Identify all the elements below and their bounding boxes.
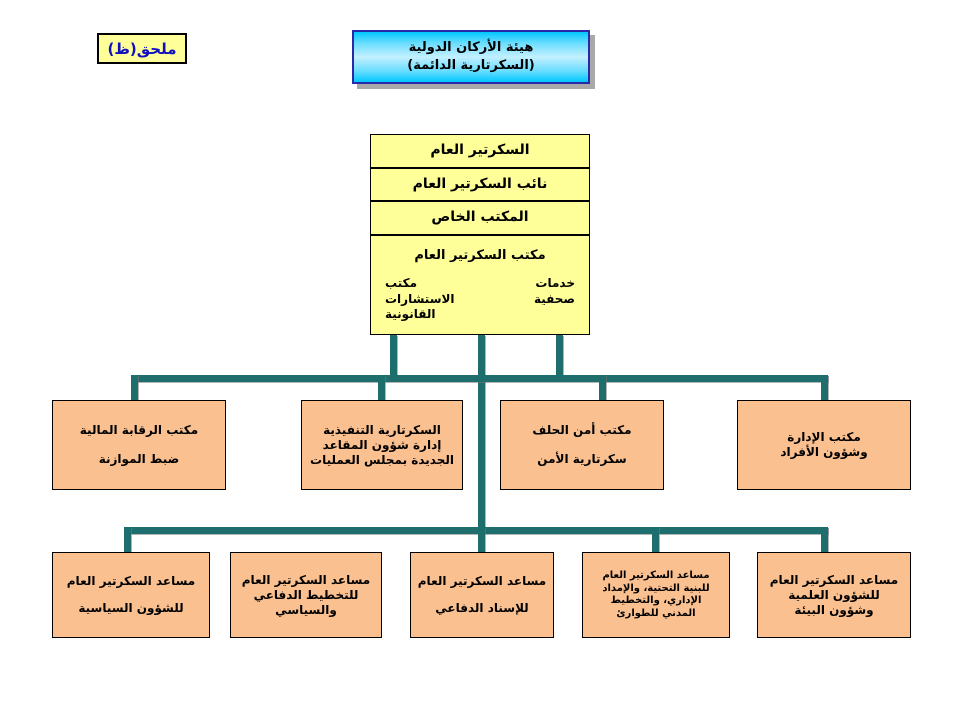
node-private-office-label: المكتب الخاص bbox=[371, 209, 589, 227]
node-financial-control-office-line-1: مكتب الرقابة المالية bbox=[53, 423, 225, 438]
node-asg-defence-policy-planning-line-3: والسياسي bbox=[231, 603, 381, 618]
connector-drop-row2-2 bbox=[599, 375, 606, 401]
sub-unit-legal-advice-office-line-1: مكتب الاستشارات bbox=[385, 276, 478, 307]
node-asg-defence-support-line-2: للإسناد الدفاعي bbox=[411, 601, 553, 616]
org-title-line-2: (السكرتارية الدائمة) bbox=[407, 57, 534, 75]
node-financial-control-office-line-2: ضبط الموازنة bbox=[53, 452, 225, 467]
node-asg-infrastructure-logistics-civil-emergency: مساعد السكرتير العام للبنية التحتية، وال… bbox=[582, 552, 730, 638]
sub-unit-press-services-line-1: خدمات bbox=[482, 276, 575, 292]
org-chart-canvas: ملحق(ظ) هيئة الأركان الدولية (السكرتارية… bbox=[0, 0, 959, 719]
node-asg-defence-policy-planning: مساعد السكرتير العام للتخطيط الدفاعي وال… bbox=[230, 552, 382, 638]
node-asg-infrastructure-line-1: مساعد السكرتير العام bbox=[583, 570, 729, 583]
node-deputy-secretary-general-label: نائب السكرتير العام bbox=[371, 176, 589, 194]
node-asg-infrastructure-line-2: للبنية التحتية، والإمداد bbox=[583, 583, 729, 596]
node-asg-defence-support: مساعد السكرتير العام للإسناد الدفاعي bbox=[410, 552, 554, 638]
node-administration-personnel-office-line-2: وشؤون الأفراد bbox=[738, 445, 910, 460]
node-asg-scientific-line-3: وشؤون البيئة bbox=[758, 603, 910, 618]
node-asg-scientific-environmental-affairs: مساعد السكرتير العام للشؤون العلمية وشؤو… bbox=[757, 552, 911, 638]
node-asg-defence-policy-planning-line-1: مساعد السكرتير العام bbox=[231, 573, 381, 588]
office-sub-units: خدمات صحفية مكتب الاستشارات القانونية bbox=[371, 276, 589, 323]
node-asg-political-affairs-line-2: للشؤون السياسية bbox=[53, 601, 209, 616]
node-asg-defence-policy-planning-line-2: للتخطيط الدفاعي bbox=[231, 588, 381, 603]
appendix-tag-label: ملحق(ظ) bbox=[107, 40, 176, 58]
sub-unit-legal-advice-office-line-2: القانونية bbox=[385, 307, 478, 323]
connector-stem-center bbox=[478, 335, 485, 527]
node-asg-scientific-line-2: للشؤون العلمية bbox=[758, 588, 910, 603]
node-office-of-secretary-general-title: مكتب السكرتير العام bbox=[371, 248, 589, 264]
node-alliance-security-office-line-2: سكرتارية الأمن bbox=[501, 452, 663, 467]
sub-unit-press-services: خدمات صحفية bbox=[482, 276, 575, 323]
node-asg-scientific-line-1: مساعد السكرتير العام bbox=[758, 573, 910, 588]
node-secretary-general-label: السكرتير العام bbox=[371, 142, 589, 160]
node-asg-defence-support-line-1: مساعد السكرتير العام bbox=[411, 574, 553, 589]
connector-drop-row2-3 bbox=[821, 375, 828, 401]
org-title-node: هيئة الأركان الدولية (السكرتارية الدائمة… bbox=[352, 30, 590, 84]
node-asg-infrastructure-line-3: الإداري، والتخطيط bbox=[583, 595, 729, 608]
node-alliance-security-office: مكتب أمن الحلف سكرتارية الأمن bbox=[500, 400, 664, 490]
sub-unit-legal-advice-office: مكتب الاستشارات القانونية bbox=[385, 276, 478, 323]
connector-bus-row2 bbox=[131, 375, 828, 382]
connector-drop-row3-4 bbox=[821, 527, 828, 554]
connector-drop-row2-1 bbox=[378, 375, 385, 401]
node-deputy-secretary-general: نائب السكرتير العام bbox=[370, 168, 590, 201]
sub-unit-press-services-line-2: صحفية bbox=[482, 292, 575, 308]
node-executive-secretariat-line-2: إدارة شؤون المقاعد bbox=[302, 438, 462, 453]
connector-bus-row3 bbox=[124, 527, 828, 534]
node-asg-political-affairs: مساعد السكرتير العام للشؤون السياسية bbox=[52, 552, 210, 638]
connector-stem-left bbox=[390, 335, 397, 379]
node-executive-secretariat-line-1: السكرتارية التنفيذية bbox=[302, 423, 462, 438]
node-administration-personnel-office-line-1: مكتب الإدارة bbox=[738, 430, 910, 445]
node-asg-political-affairs-line-1: مساعد السكرتير العام bbox=[53, 574, 209, 589]
connector-drop-row3-3 bbox=[652, 527, 659, 554]
node-executive-secretariat-line-3: الجديدة بمجلس العمليات bbox=[302, 453, 462, 468]
node-private-office: المكتب الخاص bbox=[370, 201, 590, 235]
appendix-tag: ملحق(ظ) bbox=[97, 33, 187, 64]
node-executive-secretariat: السكرتارية التنفيذية إدارة شؤون المقاعد … bbox=[301, 400, 463, 490]
node-administration-personnel-office: مكتب الإدارة وشؤون الأفراد bbox=[737, 400, 911, 490]
connector-drop-row3-2 bbox=[478, 527, 485, 554]
node-alliance-security-office-line-1: مكتب أمن الحلف bbox=[501, 423, 663, 438]
org-title-line-1: هيئة الأركان الدولية bbox=[409, 39, 534, 57]
connector-drop-row3-0 bbox=[124, 527, 131, 554]
connector-stem-right bbox=[556, 335, 563, 379]
node-secretary-general: السكرتير العام bbox=[370, 134, 590, 168]
node-financial-control-office: مكتب الرقابة المالية ضبط الموازنة bbox=[52, 400, 226, 490]
connector-drop-row2-0 bbox=[131, 375, 138, 401]
node-office-of-secretary-general: مكتب السكرتير العام خدمات صحفية مكتب الا… bbox=[370, 235, 590, 335]
node-asg-infrastructure-line-4: المدني للطوارئ bbox=[583, 608, 729, 621]
